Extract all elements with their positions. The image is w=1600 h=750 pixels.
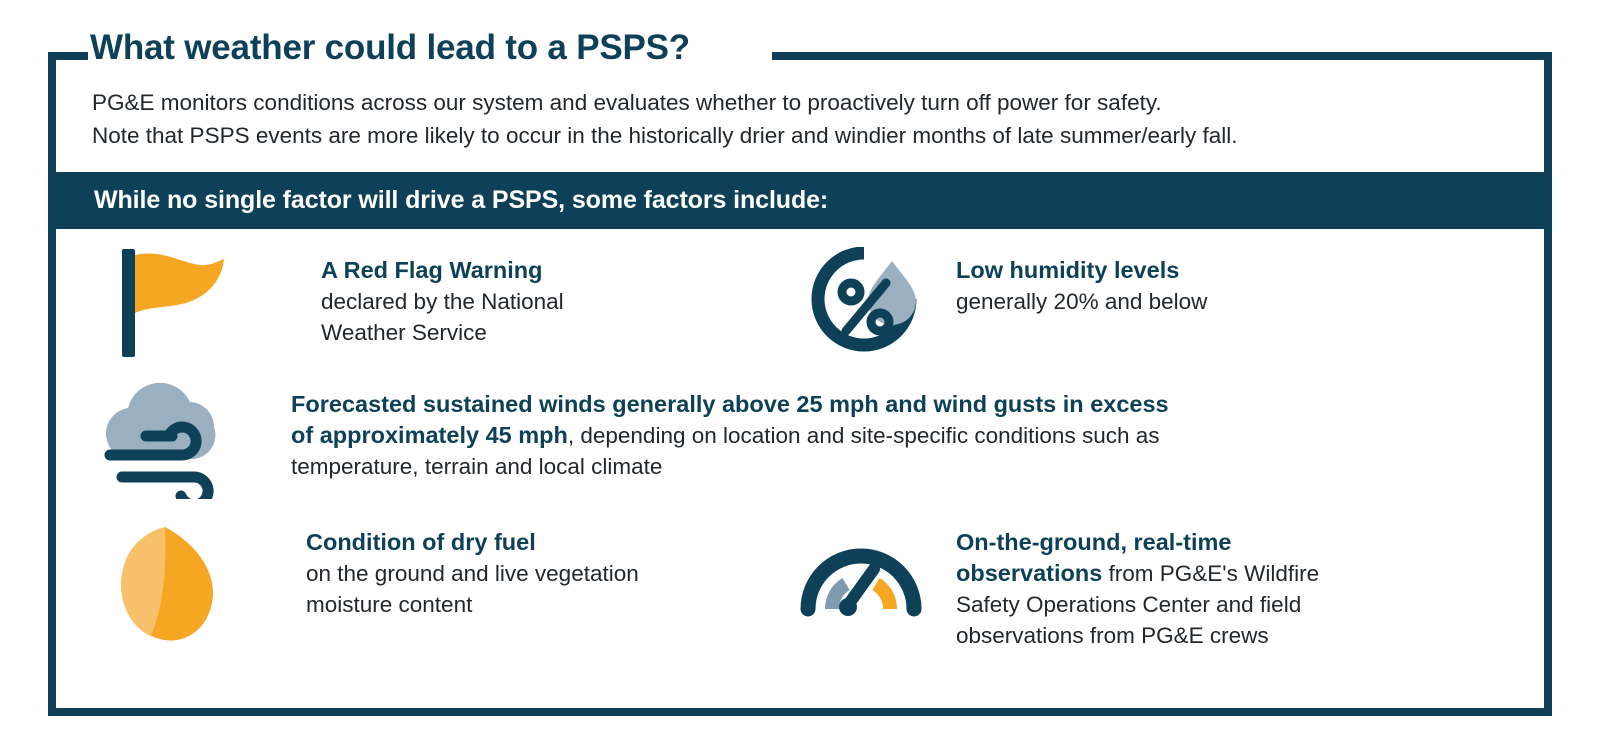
factor-bold-dry-fuel: Condition of dry fuel [306, 529, 536, 555]
page-title: What weather could lead to a PSPS? [90, 28, 702, 68]
intro-paragraph: PG&E monitors conditions across our syst… [92, 86, 1512, 152]
factor-text-observations: On-the-ground, real-time observations fr… [956, 527, 1516, 651]
factor-text-wind: Forecasted sustained winds generally abo… [291, 389, 1521, 482]
factor-rest-dry-fuel-line-1: on the ground and live vegetation [306, 561, 639, 586]
factor-rest-low-humidity-line-1: generally 20% and below [956, 289, 1207, 314]
factors-banner-label: While no single factor will drive a PSPS… [94, 186, 828, 215]
intro-line-2: Note that PSPS events are more likely to… [92, 119, 1512, 152]
factor-text-low-humidity: Low humidity levels generally 20% and be… [956, 255, 1496, 317]
factor-bold-wind-line-2: of approximately 45 mph [291, 422, 568, 448]
flag-icon [116, 247, 236, 364]
intro-line-1: PG&E monitors conditions across our syst… [92, 86, 1512, 119]
leaf-icon [101, 521, 231, 654]
factor-bold-observations-line-2: observations [956, 560, 1102, 586]
psps-weather-infographic: What weather could lead to a PSPS? PG&E … [0, 0, 1600, 750]
factor-rest-red-flag-line-1: declared by the National [321, 289, 564, 314]
factor-rest-observations-line-1: from PG&E's Wildfire [1102, 561, 1319, 586]
factors-banner: While no single factor will drive a PSPS… [56, 172, 1544, 229]
factor-bold-low-humidity: Low humidity levels [956, 257, 1179, 283]
factor-rest-observations-line-3: observations from PG&E crews [956, 623, 1269, 648]
factors-list: A Red Flag Warning declared by the Natio… [56, 229, 1544, 708]
factor-rest-wind-line-2: temperature, terrain and local climate [291, 454, 662, 479]
factor-rest-observations-line-2: Safety Operations Center and field [956, 592, 1301, 617]
factor-rest-wind-line-1: , depending on location and site-specifi… [568, 423, 1160, 448]
humidity-percent-droplet-icon [806, 247, 926, 364]
gauge-icon [796, 521, 926, 636]
wind-cloud-icon [86, 381, 256, 504]
factor-bold-observations-line-1: On-the-ground, real-time [956, 529, 1231, 555]
factor-text-red-flag-warning: A Red Flag Warning declared by the Natio… [321, 255, 741, 348]
factor-bold-red-flag: A Red Flag Warning [321, 257, 543, 283]
factor-rest-dry-fuel-line-2: moisture content [306, 592, 472, 617]
factor-rest-red-flag-line-2: Weather Service [321, 320, 487, 345]
factor-text-dry-fuel: Condition of dry fuel on the ground and … [306, 527, 736, 620]
factor-bold-wind-line-1: Forecasted sustained winds generally abo… [291, 391, 1169, 417]
